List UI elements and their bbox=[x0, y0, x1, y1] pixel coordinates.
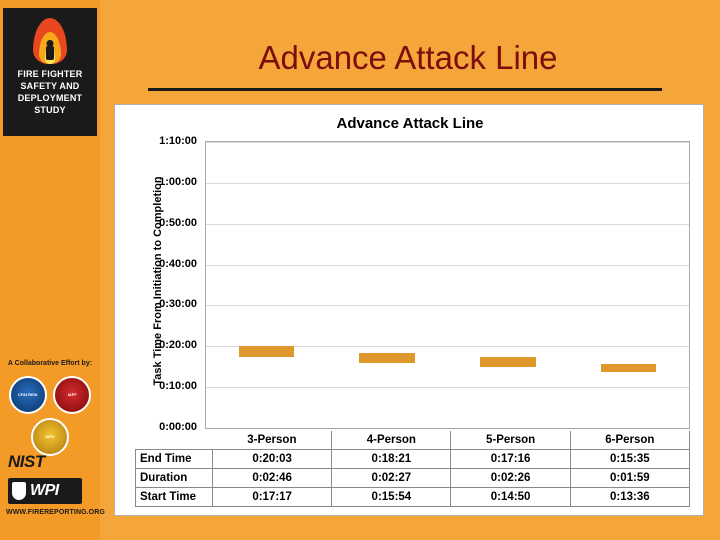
study-logo-text: FIRE FIGHTER SAFETY AND DEPLOYMENT STUDY bbox=[3, 68, 97, 116]
column-header-3: 5-Person bbox=[451, 431, 570, 450]
y-axis-tick-label: 0:50:00 bbox=[159, 217, 197, 229]
table-cell: 0:20:03 bbox=[213, 450, 332, 469]
column-header-2: 4-Person bbox=[332, 431, 451, 450]
shield-icon bbox=[12, 482, 26, 500]
slide: FIRE FIGHTER SAFETY AND DEPLOYMENT STUDY… bbox=[0, 0, 720, 540]
page-title: Advance Attack Line bbox=[108, 38, 708, 78]
row-header: Start Time bbox=[136, 488, 213, 507]
table-cell: 0:15:35 bbox=[570, 450, 689, 469]
partner-seal-iafc: IAFC bbox=[31, 418, 69, 456]
y-axis-tick-label: 0:40:00 bbox=[159, 258, 197, 270]
nist-logo: NIST bbox=[8, 452, 45, 472]
gridline bbox=[206, 183, 689, 184]
gridline bbox=[206, 265, 689, 266]
table-cell: 0:01:59 bbox=[570, 469, 689, 488]
table-corner-cell bbox=[136, 431, 213, 450]
table-row: Duration0:02:460:02:270:02:260:01:59 bbox=[136, 469, 690, 488]
table-cell: 0:14:50 bbox=[451, 488, 570, 507]
bar-6-person bbox=[601, 364, 657, 372]
table-cell: 0:02:27 bbox=[332, 469, 451, 488]
bar-3-person bbox=[239, 346, 295, 357]
data-table: 3-Person4-Person5-Person6-PersonEnd Time… bbox=[135, 431, 690, 507]
gridline bbox=[206, 387, 689, 388]
logo-line-3: DEPLOYMENT bbox=[3, 92, 97, 104]
partner-seal-iaff: IAFF bbox=[53, 376, 91, 414]
bar-5-person bbox=[480, 357, 536, 367]
y-axis-tick-label: 0:10:00 bbox=[159, 380, 197, 392]
y-axis-tick-label: 0:20:00 bbox=[159, 339, 197, 351]
chart-panel: Advance Attack Line Task Time From Initi… bbox=[114, 104, 704, 516]
plot-area bbox=[205, 141, 690, 429]
table-cell: 0:17:17 bbox=[213, 488, 332, 507]
table-cell: 0:17:16 bbox=[451, 450, 570, 469]
partner-seal-cfai: CFAI RISK bbox=[9, 376, 47, 414]
table-row: Start Time0:17:170:15:540:14:500:13:36 bbox=[136, 488, 690, 507]
table-cell: 0:02:46 bbox=[213, 469, 332, 488]
gridline bbox=[206, 305, 689, 306]
chart-title: Advance Attack Line bbox=[115, 115, 705, 132]
column-header-4: 6-Person bbox=[570, 431, 689, 450]
logo-line-2: SAFETY AND bbox=[3, 80, 97, 92]
table-cell: 0:02:26 bbox=[451, 469, 570, 488]
table-cell: 0:13:36 bbox=[570, 488, 689, 507]
gridline bbox=[206, 224, 689, 225]
wpi-logo: WPI bbox=[8, 478, 82, 504]
gridline bbox=[206, 142, 689, 143]
y-axis-tick-label: 1:10:00 bbox=[159, 135, 197, 147]
table-cell: 0:15:54 bbox=[332, 488, 451, 507]
logo-line-1: FIRE FIGHTER bbox=[3, 68, 97, 80]
sidebar: FIRE FIGHTER SAFETY AND DEPLOYMENT STUDY… bbox=[0, 0, 100, 540]
logo-line-4: STUDY bbox=[3, 104, 97, 116]
column-header-1: 3-Person bbox=[213, 431, 332, 450]
row-header: End Time bbox=[136, 450, 213, 469]
site-url: WWW.FIREREPORTING.ORG bbox=[6, 509, 105, 516]
study-logo: FIRE FIGHTER SAFETY AND DEPLOYMENT STUDY bbox=[3, 8, 97, 136]
partner-seals: CFAI RISK IAFF IAFC bbox=[0, 374, 100, 458]
y-axis-tick-label: 0:30:00 bbox=[159, 298, 197, 310]
bar-4-person bbox=[359, 353, 415, 363]
firefighter-flame-icon bbox=[23, 14, 77, 66]
title-divider bbox=[148, 88, 662, 91]
row-header: Duration bbox=[136, 469, 213, 488]
table-cell: 0:18:21 bbox=[332, 450, 451, 469]
table-header-row: 3-Person4-Person5-Person6-Person bbox=[136, 431, 690, 450]
y-axis-tick-label: 1:00:00 bbox=[159, 176, 197, 188]
table-row: End Time0:20:030:18:210:17:160:15:35 bbox=[136, 450, 690, 469]
y-axis-ticks: 0:00:000:10:000:20:000:30:000:40:000:50:… bbox=[135, 141, 201, 429]
collaboration-note: A Collaborative Effort by: bbox=[0, 360, 100, 367]
